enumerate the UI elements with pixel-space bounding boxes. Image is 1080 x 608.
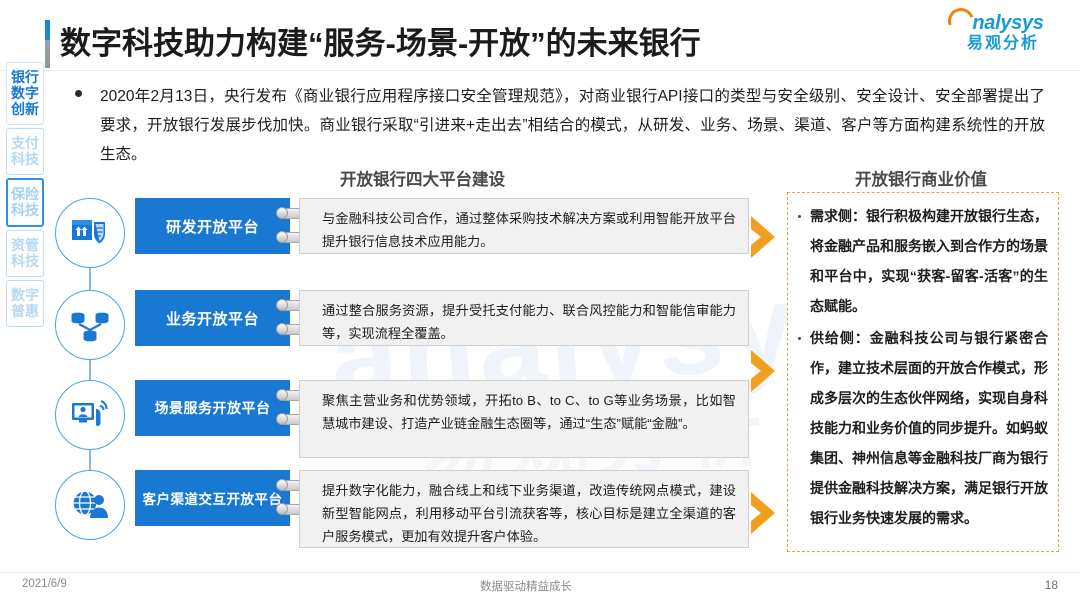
value-point-demand-side: 需求侧：银行积极构建开放银行生态，将金融产品和服务嵌入到合作方的场景和平台中，实… [794,201,1048,321]
page-title: 数字科技助力构建“服务-场景-开放”的未来银行 [60,18,701,63]
sidebar-item-payment-tech[interactable]: 支付科技 [6,128,44,175]
footer-date: 2021/6/9 [22,578,67,590]
lead-paragraph: 2020年2月13日，央行发布《商业银行应用程序接口安全管理规范》，对商业银行A… [100,82,1045,169]
box-shield-icon [55,198,125,268]
section-heading-right: 开放银行商业价值 [855,166,987,190]
footer-page-number: 18 [1045,578,1058,592]
sidebar-item-asset-management-tech[interactable]: 资管科技 [6,230,44,277]
database-merge-icon [55,290,125,360]
platform-label-text: 研发开放平台 [166,216,259,237]
lead-bullet-icon [75,90,82,97]
platform-label[interactable]: 客户渠道交互开放平台 [135,470,290,526]
platform-description: 与金融科技公司合作，通过整体采购技术解决方案或利用智能开放平台提升银行信息技术应… [299,198,749,254]
globe-person-icon [55,470,125,540]
platform-label[interactable]: 业务开放平台 [135,290,290,346]
chevron-right-icon [748,214,778,260]
logo-wordmark-cn: 易观分析 [944,34,1062,54]
section-heading-left: 开放银行四大平台建设 [340,166,505,190]
platform-label-text: 场景服务开放平台 [155,398,271,418]
platform-label[interactable]: 场景服务开放平台 [135,380,290,436]
logo-wordmark-en: nalysys [944,12,1062,34]
sidebar-item-insurance-tech[interactable]: 保险科技 [6,178,44,227]
platform-description: 聚焦主营业务和优势领域，开拓to B、to C、to G等业务场景，比如智慧城市… [299,380,749,458]
logo-wordmark-text: nalysys [972,12,1043,34]
analysys-logo: nalysys 易观分析 [944,12,1062,64]
sidebar-item-digital-inclusive-finance[interactable]: 数字普惠 [6,280,44,327]
platform-label[interactable]: 研发开放平台 [135,198,290,254]
platform-label-text: 业务开放平台 [166,308,259,329]
value-point-supply-side: 供给侧：金融科技公司与银行紧密合作，建立技术层面的开放合作模式，形成多层次的生态… [794,323,1048,533]
footer-slogan: 数据驱动精益成长 [480,578,572,594]
business-value-panel: 需求侧：银行积极构建开放银行生态，将金融产品和服务嵌入到合作方的场景和平台中，实… [787,192,1059,552]
chevron-right-icon [748,348,778,394]
footer-divider [0,572,1080,573]
platform-description: 通过整合服务资源，提升受托支付能力、联合风控能力和智能信审能力等，实现流程全覆盖… [299,290,749,346]
sidebar-item-label: 银行数字创新 [7,69,43,117]
sidebar-item-label: 保险科技 [8,186,42,218]
sidebar-item-label: 支付科技 [7,135,43,167]
chevron-right-icon [748,490,778,536]
platform-description: 提升数字化能力，融合线上和线下业务渠道，改造传统网点模式，建设新型智能网点，利用… [299,470,749,548]
slide-root: analysys 易观分析 数字科技助力构建“服务-场景-开放”的未来银行 na… [0,0,1080,608]
sidebar-item-label: 数字普惠 [7,287,43,319]
header-divider [0,70,1080,71]
sidebar-item-bank-digital-innovation[interactable]: 银行数字创新 [6,62,44,125]
title-accent-bar [45,20,50,68]
platform-label-text: 客户渠道交互开放平台 [143,488,283,508]
sidebar-nav: 银行数字创新 支付科技 保险科技 资管科技 数字普惠 [6,62,46,330]
screen-person-icon [55,380,125,450]
sidebar-item-label: 资管科技 [7,237,43,269]
